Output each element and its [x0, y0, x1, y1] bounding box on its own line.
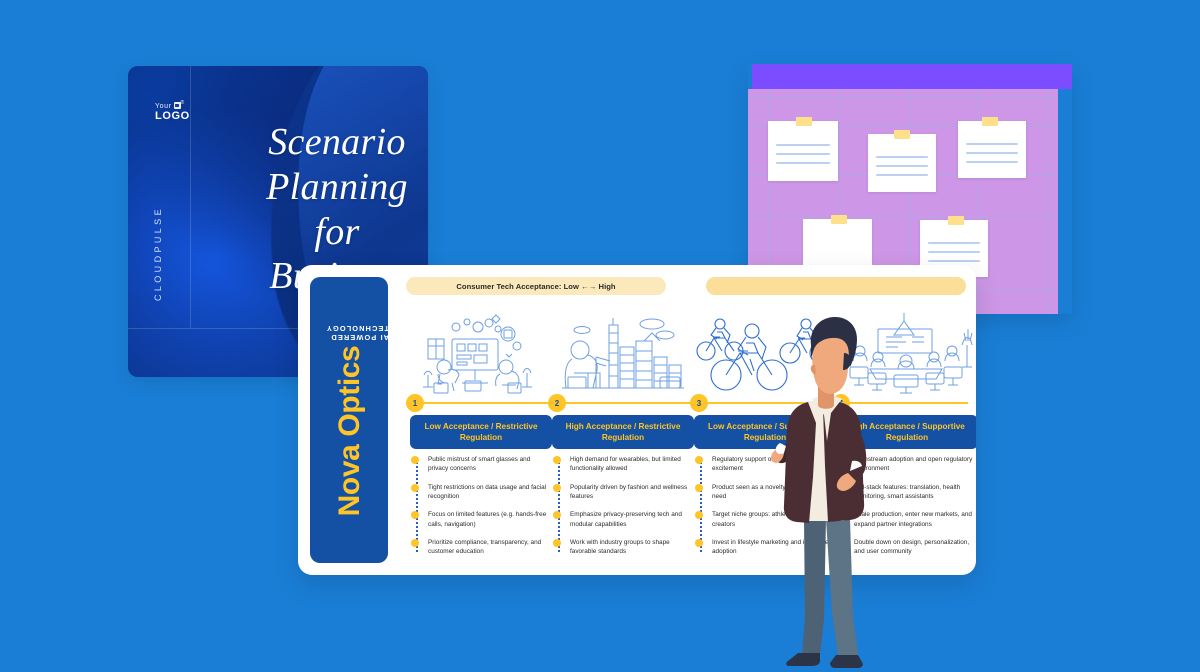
logo-line2: LOGO [155, 111, 190, 122]
bullet-connector-line [700, 457, 702, 552]
logo-line1: Your [155, 103, 172, 110]
note-tape-icon [982, 117, 998, 126]
bullet-dot-icon [411, 456, 419, 464]
scenario-bullet: Popularity driven by fashion and wellnes… [570, 483, 694, 502]
banner-secondary [706, 277, 966, 295]
note-text-line [776, 162, 830, 164]
scenario-column: Low Acceptance / Restrictive Regulation … [410, 415, 552, 565]
scenario-bullet: Prioritize compliance, transparency, and… [428, 538, 552, 557]
bullet-dot-icon [411, 484, 419, 492]
illustration-team-at-desk [410, 313, 550, 395]
scenario-bullets: High demand for wearables, but limited f… [552, 455, 694, 556]
sticky-note-3[interactable] [958, 121, 1026, 178]
bullet-text: Emphasize privacy-preserving tech and mo… [570, 511, 682, 527]
note-text-line [876, 156, 928, 158]
bullet-text: Work with industry groups to shape favor… [570, 539, 670, 555]
banner-consumer-tech-acceptance: Consumer Tech Acceptance: Low ←→ High [406, 277, 666, 295]
timeline-marker-3[interactable]: 3 [690, 394, 708, 412]
scenario-bullet: High demand for wearables, but limited f… [570, 455, 694, 474]
bullet-dot-icon [553, 511, 561, 519]
illustration-city-construction [552, 313, 692, 395]
bullet-dot-icon [553, 484, 561, 492]
bullet-dot-icon [695, 456, 703, 464]
scene-root: Your® LOGO CLOUDPULSE 11.15.35 Scenario … [0, 0, 1200, 672]
brand-sidebar-inner: Nova Optics AI POWERED TECHNOLOGY [311, 277, 389, 563]
logo-mark-icon [174, 102, 181, 109]
scenario-bullet: Public mistrust of smart glasses and pri… [428, 455, 552, 474]
bullet-dot-icon [695, 484, 703, 492]
scenario-heading: High Acceptance / Restrictive Regulation [552, 415, 694, 449]
bullet-dot-icon [695, 539, 703, 547]
note-tape-icon [831, 215, 847, 224]
bullet-text: Prioritize compliance, transparency, and… [428, 539, 541, 555]
brand-tagline: AI POWERED TECHNOLOGY [311, 324, 389, 342]
bullet-dot-icon [695, 511, 703, 519]
bullet-dot-icon [411, 511, 419, 519]
note-text-line [876, 174, 928, 176]
scenario-bullet: Tight restrictions on data usage and fac… [428, 483, 552, 502]
bullet-dot-icon [553, 456, 561, 464]
note-text-line [876, 165, 928, 167]
note-text-line [928, 242, 980, 244]
bullet-text: Tight restrictions on data usage and fac… [428, 484, 546, 500]
brand-name: Nova Optics [335, 346, 365, 517]
bullet-dot-icon [553, 539, 561, 547]
brand-vertical-label: CLOUDPULSE [153, 206, 163, 301]
sticky-note-1[interactable] [768, 121, 838, 181]
logo: Your® LOGO [155, 101, 190, 122]
note-text-line [966, 143, 1018, 145]
scenario-bullet: Work with industry groups to shape favor… [570, 538, 694, 557]
grid-line-v [1048, 89, 1049, 314]
brand-sidebar: Nova Optics AI POWERED TECHNOLOGY [310, 277, 388, 563]
note-text-line [966, 161, 1018, 163]
note-text-line [966, 152, 1018, 154]
note-tape-icon [948, 216, 964, 225]
grid-line-h [748, 97, 1058, 98]
scenario-heading: Low Acceptance / Restrictive Regulation [410, 415, 552, 449]
divider-vertical [190, 66, 191, 328]
timeline-marker-2[interactable]: 2 [548, 394, 566, 412]
bullet-text: High demand for wearables, but limited f… [570, 456, 681, 472]
note-tape-icon [894, 130, 910, 139]
note-text-line [776, 144, 830, 146]
bullet-text: Popularity driven by fashion and wellnes… [570, 484, 687, 500]
grid-line-h [748, 217, 1058, 218]
scenario-bullet: Focus on limited features (e.g. hands-fr… [428, 510, 552, 529]
whiteboard-header [752, 64, 1072, 89]
bullet-text: Public mistrust of smart glasses and pri… [428, 456, 530, 472]
note-text-line [928, 260, 980, 262]
note-text-line [776, 153, 830, 155]
bullet-connector-line [416, 457, 418, 552]
note-text-line [928, 251, 980, 253]
scenario-bullets: Public mistrust of smart glasses and pri… [410, 455, 552, 556]
presenter-illustration [756, 305, 896, 672]
timeline-marker-1[interactable]: 1 [406, 394, 424, 412]
sticky-note-2[interactable] [868, 134, 936, 192]
bullet-connector-line [558, 457, 560, 552]
note-tape-icon [796, 117, 812, 126]
bullet-dot-icon [411, 539, 419, 547]
scenario-bullet: Emphasize privacy-preserving tech and mo… [570, 510, 694, 529]
bullet-text: Focus on limited features (e.g. hands-fr… [428, 511, 546, 527]
scenario-column: High Acceptance / Restrictive Regulation… [552, 415, 694, 565]
